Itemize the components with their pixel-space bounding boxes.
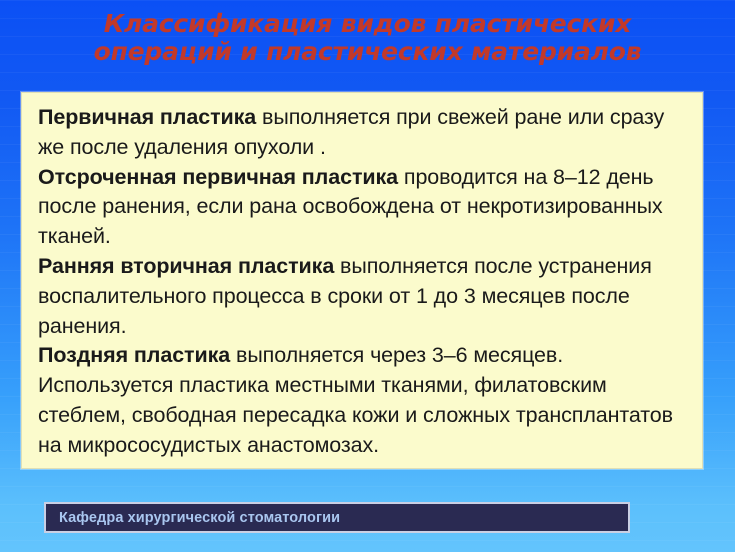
paragraph-early-secondary-plasty: Ранняя вторичная пластика выполняется по… (38, 252, 688, 341)
slide-title-line-1: Классификация видов пластических (0, 10, 735, 38)
content-body: Первичная пластика выполняется при свеже… (38, 103, 688, 461)
slide-canvas: Классификация видов пластических операци… (0, 0, 735, 552)
paragraph-primary-plasty: Первичная пластика выполняется при свеже… (38, 103, 688, 163)
paragraph-early-secondary-plasty-lead: Ранняя вторичная пластика (38, 254, 334, 278)
slide-title: Классификация видов пластических операци… (0, 10, 735, 66)
paragraph-primary-plasty-lead: Первичная пластика (38, 105, 256, 129)
footer-bar: Кафедра хирургической стоматологии (44, 502, 630, 533)
paragraph-late-plasty: Поздняя пластика выполняется через 3–6 м… (38, 341, 688, 460)
paragraph-delayed-primary-plasty-lead: Отсроченная первичная пластика (38, 165, 398, 189)
paragraph-delayed-primary-plasty: Отсроченная первичная пластика проводитс… (38, 163, 688, 252)
content-card: Первичная пластика выполняется при свеже… (21, 92, 703, 469)
paragraph-late-plasty-lead: Поздняя пластика (38, 343, 230, 367)
slide-title-line-2: операций и пластических материалов (0, 38, 735, 66)
footer-label: Кафедра хирургической стоматологии (46, 510, 340, 526)
